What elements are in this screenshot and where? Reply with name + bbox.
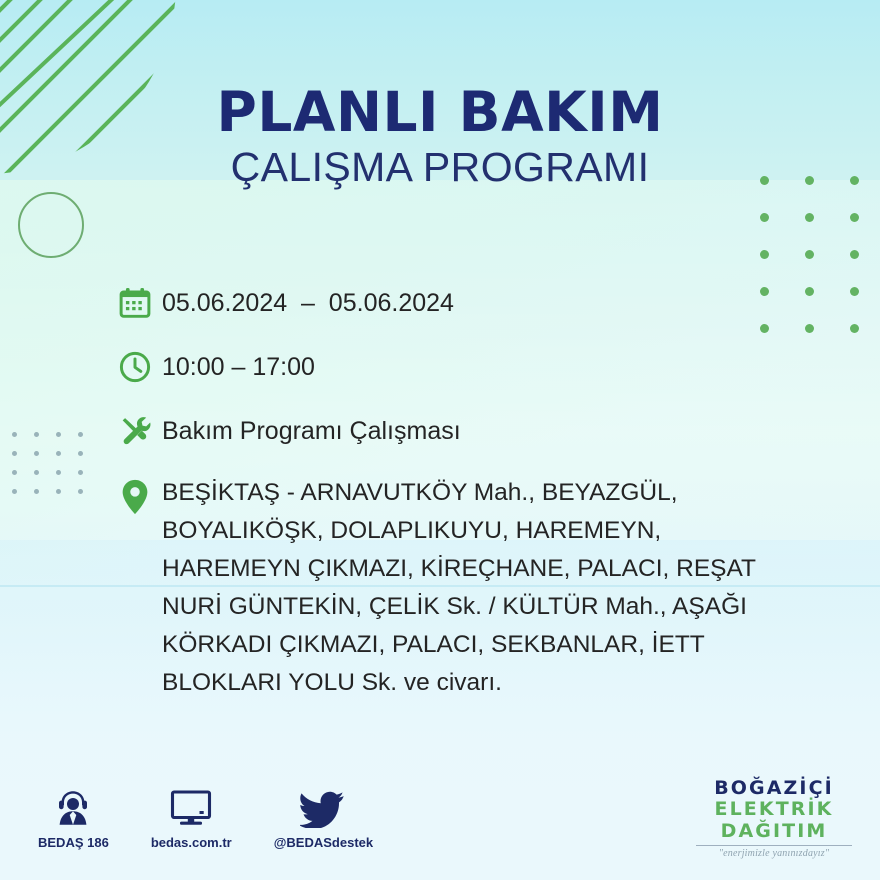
page-title: PLANLI BAKIM ÇALIŞMA PROGRAMI xyxy=(0,84,880,189)
info-row-date-text: 05.06.2024 – 05.06.2024 xyxy=(162,282,818,324)
contact-website[interactable]: bedas.com.tr xyxy=(151,788,232,850)
title-subtitle: ÇALIŞMA PROGRAMI xyxy=(0,146,880,189)
info-row-location: BEŞİKTAŞ - ARNAVUTKÖY Mah., BEYAZGÜL, BO… xyxy=(118,474,818,702)
brand-line-dagitim: DAĞITIM xyxy=(690,821,858,842)
brand-line-elektrik: ELEKTRİK xyxy=(690,799,858,820)
brand-divider xyxy=(696,845,852,846)
contact-twitter[interactable]: @BEDASdestek xyxy=(274,788,373,850)
twitter-bird-icon xyxy=(300,788,346,828)
brand-tagline: "enerjimizle yanınızdayız" xyxy=(690,848,858,859)
info-row-worktype-text: Bakım Programı Çalışması xyxy=(162,410,818,452)
circle-outline-decoration xyxy=(18,192,84,258)
footer-contact-links: BEDAŞ 186 bedas.com.tr @BEDASdestek xyxy=(38,788,373,850)
contact-phone-label: BEDAŞ 186 xyxy=(38,835,109,850)
clock-icon xyxy=(118,346,162,388)
info-row-location-text: BEŞİKTAŞ - ARNAVUTKÖY Mah., BEYAZGÜL, BO… xyxy=(162,474,818,702)
planned-maintenance-poster: PLANLI BAKIM ÇALIŞMA PROGRAMI xyxy=(0,0,880,880)
info-list: 05.06.2024 – 05.06.2024 10:00 – 17:00 xyxy=(118,282,818,702)
info-row-worktype: Bakım Programı Çalışması xyxy=(118,410,818,452)
info-row-time-text: 10:00 – 17:00 xyxy=(162,346,818,388)
monitor-icon xyxy=(168,788,214,828)
contact-website-label: bedas.com.tr xyxy=(151,835,232,850)
info-row-time: 10:00 – 17:00 xyxy=(118,346,818,388)
info-row-date: 05.06.2024 – 05.06.2024 xyxy=(118,282,818,324)
brand-line-bogazici: BOĞAZİÇİ xyxy=(690,778,858,799)
tools-icon xyxy=(118,410,162,452)
contact-phone[interactable]: BEDAŞ 186 xyxy=(38,788,109,850)
location-pin-icon xyxy=(118,476,162,518)
contact-twitter-label: @BEDASdestek xyxy=(274,835,373,850)
title-main: PLANLI BAKIM xyxy=(0,84,880,140)
support-agent-icon xyxy=(52,788,94,828)
calendar-icon xyxy=(118,282,162,324)
dot-grid-left-decoration xyxy=(12,432,100,508)
brand-logo: BOĞAZİÇİ ELEKTRİK DAĞITIM "enerjimizle y… xyxy=(690,778,858,859)
